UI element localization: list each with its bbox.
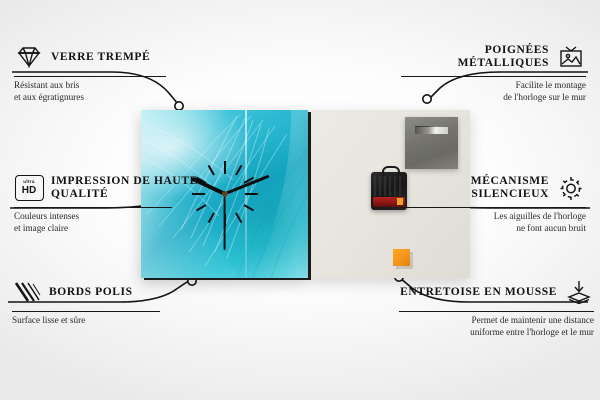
- feature-poignees-metalliques: POIGNÉES MÉTALLIQUES Facilite le montage…: [401, 42, 586, 103]
- ultra-hd-icon: ultraHD: [14, 173, 44, 203]
- feature-subtitle: Les aiguilles de l'horloge ne font aucun…: [401, 211, 586, 234]
- feature-subtitle: Couleurs intenses et image claire: [14, 211, 199, 234]
- divider: [401, 207, 586, 208]
- metal-hanger-plate: [405, 117, 458, 169]
- clock-second-hand: [224, 194, 226, 250]
- gear-icon: [556, 173, 586, 203]
- feature-verre-trempe: VERRE TREMPÉ Résistant aux bris et aux é…: [14, 42, 199, 103]
- divider: [12, 311, 160, 312]
- feature-subtitle: Facilite le montage de l'horloge sur le …: [401, 80, 586, 103]
- divider: [14, 207, 172, 208]
- feature-title: ENTRETOISE EN MOUSSE: [400, 286, 557, 299]
- feature-subtitle: Permet de maintenir une distance uniform…: [399, 315, 594, 338]
- feature-bords-polis: BORDS POLIS Surface lisse et sûre: [12, 277, 197, 327]
- feature-mecanisme-silencieux: MÉCANISME SILENCIEUX Les aiguilles de l'…: [401, 173, 586, 234]
- feature-subtitle: Résistant aux bris et aux égratignures: [14, 80, 199, 103]
- feature-impression-hd: ultraHD IMPRESSION DE HAUTE QUALITÉ Coul…: [14, 173, 199, 234]
- hanger-slot: [415, 126, 448, 134]
- diamond-icon: [14, 42, 44, 72]
- feature-entretoise-mousse: ENTRETOISE EN MOUSSE Permet de maintenir…: [399, 277, 594, 338]
- clock-hub: [222, 191, 228, 197]
- feature-title: MÉCANISME SILENCIEUX: [401, 175, 549, 201]
- mechanism-label: [374, 176, 404, 196]
- feature-title: IMPRESSION DE HAUTE QUALITÉ: [51, 175, 199, 201]
- feature-subtitle: Surface lisse et sûre: [12, 315, 197, 326]
- infographic-canvas: VERRE TREMPÉ Résistant aux bris et aux é…: [0, 0, 600, 400]
- picture-hanger-icon: [556, 42, 586, 72]
- foam-spacer: [393, 249, 410, 266]
- feature-title: POIGNÉES MÉTALLIQUES: [401, 44, 549, 70]
- divider: [399, 311, 594, 312]
- foam-spacer-icon: [564, 277, 594, 307]
- feature-title: BORDS POLIS: [49, 286, 133, 299]
- divider: [401, 76, 586, 77]
- divider: [14, 76, 166, 77]
- polished-edges-icon: [12, 277, 42, 307]
- feature-title: VERRE TREMPÉ: [51, 51, 150, 64]
